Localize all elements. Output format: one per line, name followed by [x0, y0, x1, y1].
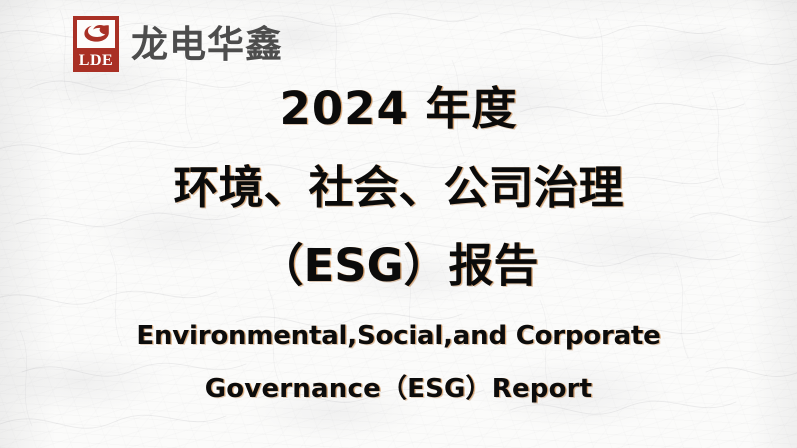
cover-title-block: 2024 年度 环境、社会、公司治理 （ESG）报告 Environmental…: [0, 86, 797, 402]
title-chinese-subject-line: 环境、社会、公司治理: [0, 165, 797, 210]
title-english-line-1: Environmental,Social,and Corporate: [0, 323, 797, 349]
company-logo-lockup: LDE 龙电华鑫: [73, 16, 283, 72]
lde-logo-mark: LDE: [73, 16, 119, 72]
title-year-line: 2024 年度: [0, 86, 797, 131]
title-english-line-2: Governance（ESG）Report: [0, 376, 797, 402]
company-wordmark: 龙电华鑫: [131, 26, 283, 63]
lde-swoosh-icon: [77, 20, 115, 48]
lde-abbreviation: LDE: [73, 53, 119, 69]
esg-report-cover-slide: LDE 龙电华鑫 2024 年度 环境、社会、公司治理 （ESG）报告 Envi…: [0, 0, 797, 448]
title-chinese-esg-report-line: （ESG）报告: [0, 243, 797, 288]
